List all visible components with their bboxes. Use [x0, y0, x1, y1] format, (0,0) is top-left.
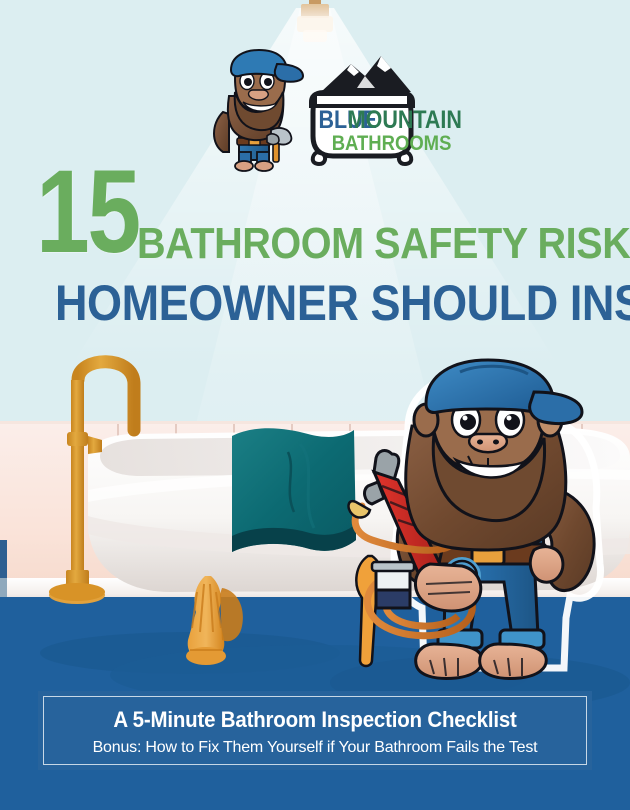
bathtub-foot-back: [220, 588, 243, 641]
bigfoot-feet: [416, 644, 547, 678]
banner-subtitle: Bonus: How to Fix Them Yourself if Your …: [38, 739, 592, 757]
bottom-banner: A 5-Minute Bathroom Inspection Checklist…: [38, 691, 592, 770]
lamp-glow-lower: [303, 30, 327, 42]
headline-number: 15: [36, 160, 139, 265]
poster-cover: BLUE MOUNTAIN BATHROOMS 15 BATHROOM SAFE…: [0, 0, 630, 810]
headline-block: 15 BATHROOM SAFETY RISKS EVERY HOMEOWNER…: [0, 160, 630, 272]
headline-line-2: HOMEOWNER SHOULD INSPECT: [55, 278, 630, 328]
mascot-left-hand: [415, 564, 480, 611]
hose-fitting: [349, 501, 370, 517]
logo-mascot: [214, 50, 303, 171]
mascot-cap-brim: [530, 392, 582, 424]
headline-line-1: BATHROOM SAFETY RISKS EVERY: [137, 222, 630, 266]
banner-title: A 5-Minute Bathroom Inspection Checklist: [57, 707, 572, 733]
mascot-nose: [469, 434, 507, 452]
brand-logo[interactable]: BLUE MOUNTAIN BATHROOMS: [205, 52, 430, 172]
logo-text-bathrooms: BATHROOMS: [332, 132, 452, 155]
logo-text-mountain: MOUNTAIN: [348, 105, 462, 133]
paint-can: [372, 562, 414, 608]
bigfoot-plumber-mascot: [338, 368, 630, 698]
